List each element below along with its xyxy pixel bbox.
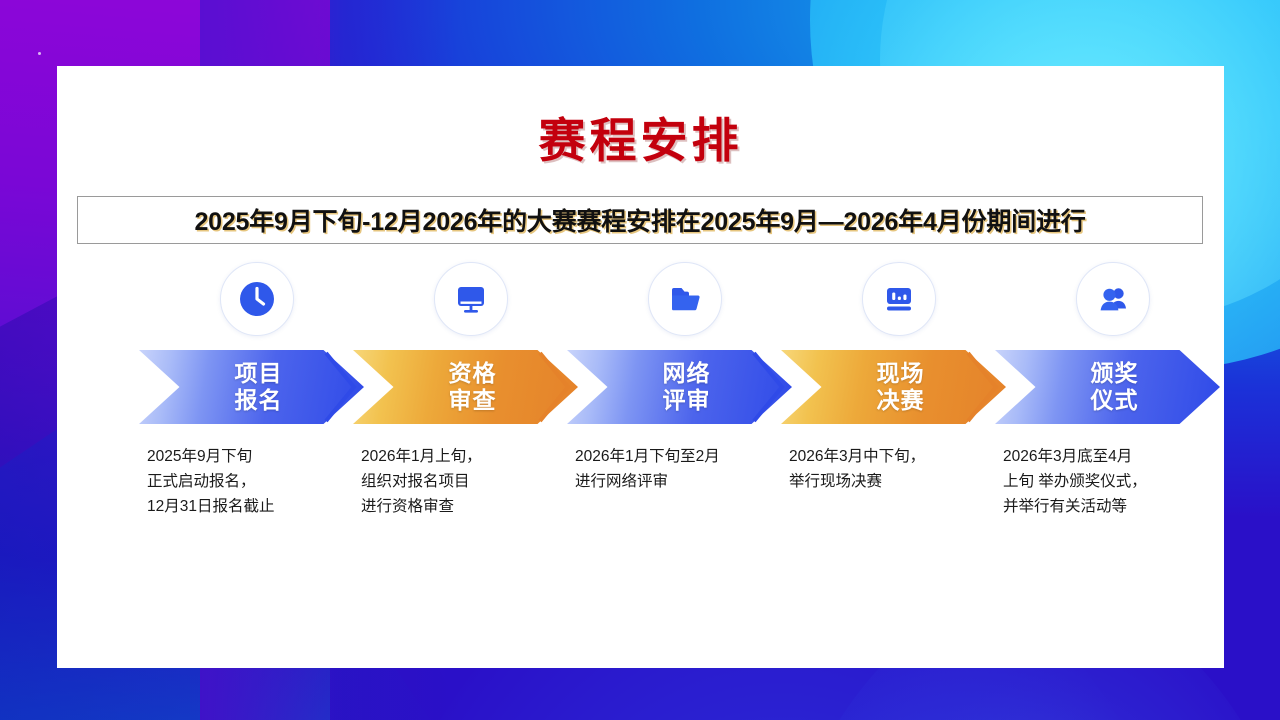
step-4[interactable]: 现场 决赛 2026年3月中下旬， 举行现场决赛 xyxy=(781,262,1016,622)
people-icon xyxy=(1076,262,1150,336)
step-5-banner[interactable]: 颁奖 仪式 xyxy=(995,350,1220,424)
timeline-steps: 项目 报名 2025年9月下旬 正式启动报名， 12月31日报名截止 xyxy=(57,262,1224,622)
step-2-label: 资格 审查 xyxy=(449,360,497,414)
subtitle-box: 2025年9月下旬-12月2026年的大赛赛程安排在2025年9月—2026年4… xyxy=(77,196,1203,244)
step-5-desc-line3: 并举行有关活动等 xyxy=(1003,494,1231,519)
presentation-chart-icon xyxy=(862,262,936,336)
step-2-label-line2: 审查 xyxy=(449,387,497,414)
step-5-description: 2026年3月底至4月 上旬 举办颁奖仪式， 并举行有关活动等 xyxy=(1003,444,1231,519)
step-3-label-line2: 评审 xyxy=(663,387,711,414)
background-speck xyxy=(38,52,41,55)
step-4-label-line1: 现场 xyxy=(877,360,925,387)
page-title: 赛程安排 xyxy=(57,102,1224,171)
step-1-desc-line3: 12月31日报名截止 xyxy=(147,494,375,519)
subtitle-text: 2025年9月下旬-12月2026年的大赛赛程安排在2025年9月—2026年4… xyxy=(194,202,1085,238)
step-1-description: 2025年9月下旬 正式启动报名， 12月31日报名截止 xyxy=(147,444,375,519)
step-2[interactable]: 资格 审查 2026年1月上旬， 组织对报名项目 进行资格审查 xyxy=(353,262,588,622)
step-5-label: 颁奖 仪式 xyxy=(1091,360,1139,414)
step-2-desc-line2: 组织对报名项目 xyxy=(361,469,589,494)
step-4-desc-line1: 2026年3月中下旬， xyxy=(789,444,1017,469)
step-4-label-line2: 决赛 xyxy=(877,387,925,414)
step-2-description: 2026年1月上旬， 组织对报名项目 进行资格审查 xyxy=(361,444,589,519)
step-1-label-line2: 报名 xyxy=(235,387,283,414)
step-3[interactable]: 网络 评审 2026年1月下旬至2月 进行网络评审 xyxy=(567,262,802,622)
step-5[interactable]: 颁奖 仪式 2026年3月底至4月 上旬 举办颁奖仪式， 并举行有关活动等 xyxy=(995,262,1230,622)
monitor-icon xyxy=(434,262,508,336)
step-3-label-line1: 网络 xyxy=(663,360,711,387)
step-2-desc-line1: 2026年1月上旬， xyxy=(361,444,589,469)
step-1-label: 项目 报名 xyxy=(235,360,283,414)
step-3-description: 2026年1月下旬至2月 进行网络评审 xyxy=(575,444,803,494)
folder-icon xyxy=(648,262,722,336)
step-5-desc-line2: 上旬 举办颁奖仪式， xyxy=(1003,469,1231,494)
step-4-desc-line2: 举行现场决赛 xyxy=(789,469,1017,494)
step-5-desc-line1: 2026年3月底至4月 xyxy=(1003,444,1231,469)
step-1-label-line1: 项目 xyxy=(235,360,283,387)
step-3-desc-line2: 进行网络评审 xyxy=(575,469,803,494)
step-4-label: 现场 决赛 xyxy=(877,360,925,414)
step-4-description: 2026年3月中下旬， 举行现场决赛 xyxy=(789,444,1017,494)
step-2-label-line1: 资格 xyxy=(449,360,497,387)
clock-icon xyxy=(220,262,294,336)
step-1-desc-line1: 2025年9月下旬 xyxy=(147,444,375,469)
step-3-desc-line1: 2026年1月下旬至2月 xyxy=(575,444,803,469)
step-1-desc-line2: 正式启动报名， xyxy=(147,469,375,494)
step-5-label-line1: 颁奖 xyxy=(1091,360,1139,387)
step-2-desc-line3: 进行资格审查 xyxy=(361,494,589,519)
step-5-label-line2: 仪式 xyxy=(1091,387,1139,414)
step-3-label: 网络 评审 xyxy=(663,360,711,414)
step-1[interactable]: 项目 报名 2025年9月下旬 正式启动报名， 12月31日报名截止 xyxy=(139,262,374,622)
slide-card: 赛程安排 2025年9月下旬-12月2026年的大赛赛程安排在2025年9月—2… xyxy=(57,66,1224,668)
